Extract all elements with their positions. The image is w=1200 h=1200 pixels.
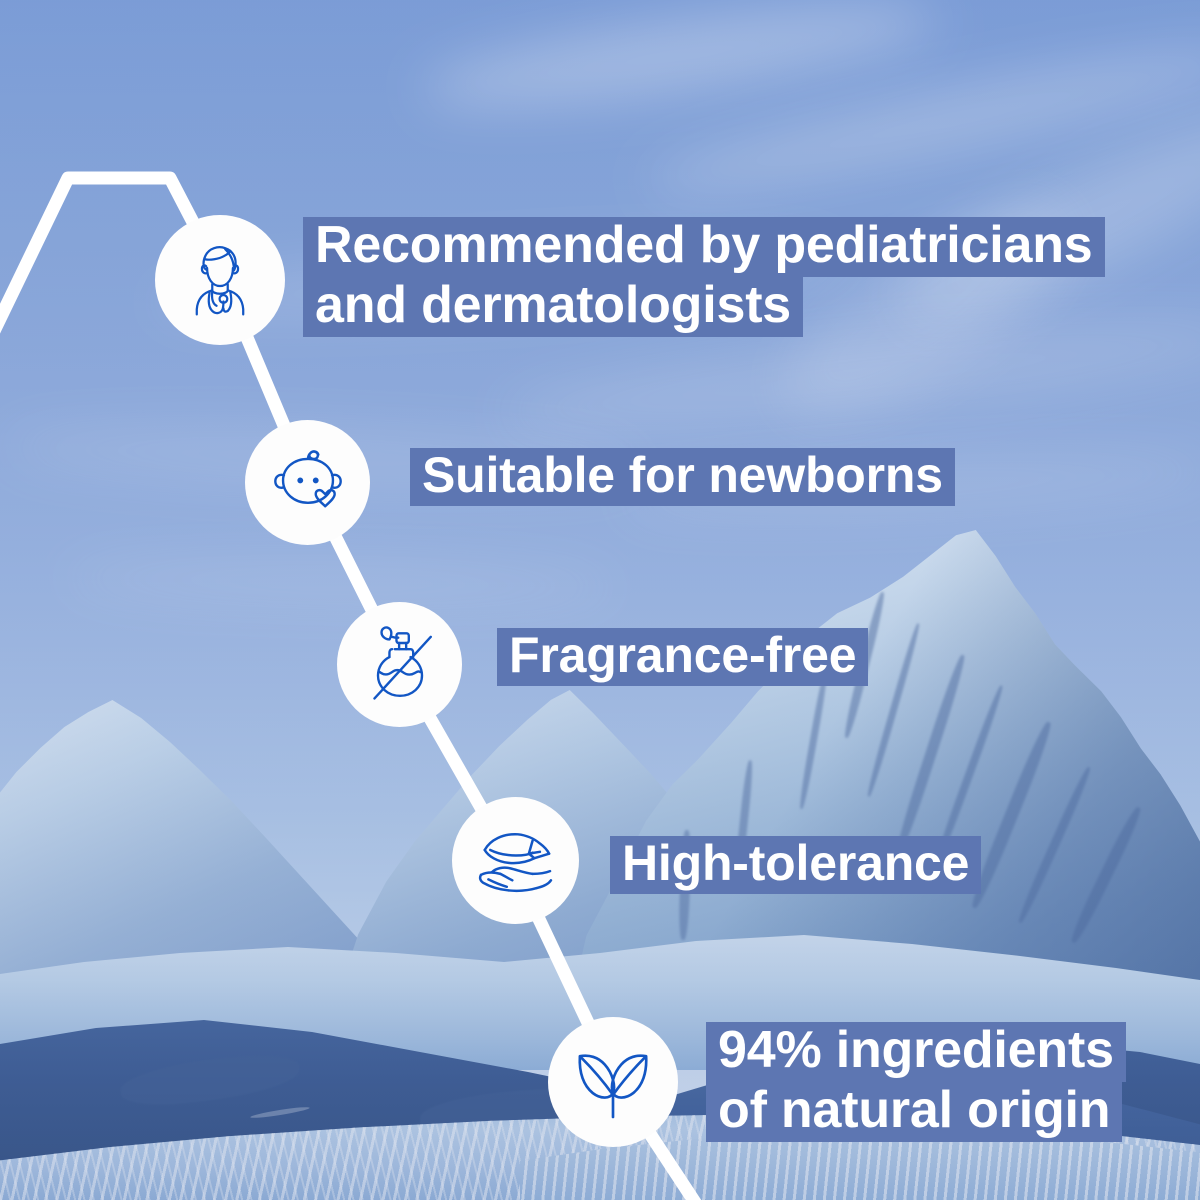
feature-bubble-natural-origin	[548, 1017, 678, 1147]
feature-label-newborns: Suitable for newborns	[410, 448, 955, 506]
feature-label-line: High-tolerance	[610, 836, 981, 894]
perfume-bottle-crossed-out-icon	[356, 621, 444, 709]
hand-holding-feather-icon	[470, 815, 562, 907]
feature-label-pediatricians: Recommended by pediatricians and dermato…	[303, 217, 1105, 337]
feature-label-line: 94% ingredients	[706, 1022, 1126, 1082]
two-leaves-plant-icon	[567, 1036, 659, 1128]
feature-bubble-newborns	[245, 420, 370, 545]
feature-label-fragrance-free: Fragrance-free	[497, 628, 868, 686]
feature-label-line: Fragrance-free	[497, 628, 868, 686]
product-benefits-poster: Recommended by pediatricians and dermato…	[0, 0, 1200, 1200]
feature-bubble-fragrance-free	[337, 602, 462, 727]
feature-bubble-pediatricians	[155, 215, 285, 345]
feature-label-high-tolerance: High-tolerance	[610, 836, 981, 894]
feature-label-line: Recommended by pediatricians	[303, 217, 1105, 277]
feature-label-line: Suitable for newborns	[410, 448, 955, 506]
baby-face-heart-icon	[265, 440, 351, 526]
feature-bubble-high-tolerance	[452, 797, 579, 924]
feature-label-natural-origin: 94% ingredients of natural origin	[706, 1022, 1126, 1142]
doctor-stethoscope-icon	[177, 237, 263, 323]
feature-label-line: and dermatologists	[303, 277, 803, 337]
feature-label-line: of natural origin	[706, 1082, 1122, 1142]
